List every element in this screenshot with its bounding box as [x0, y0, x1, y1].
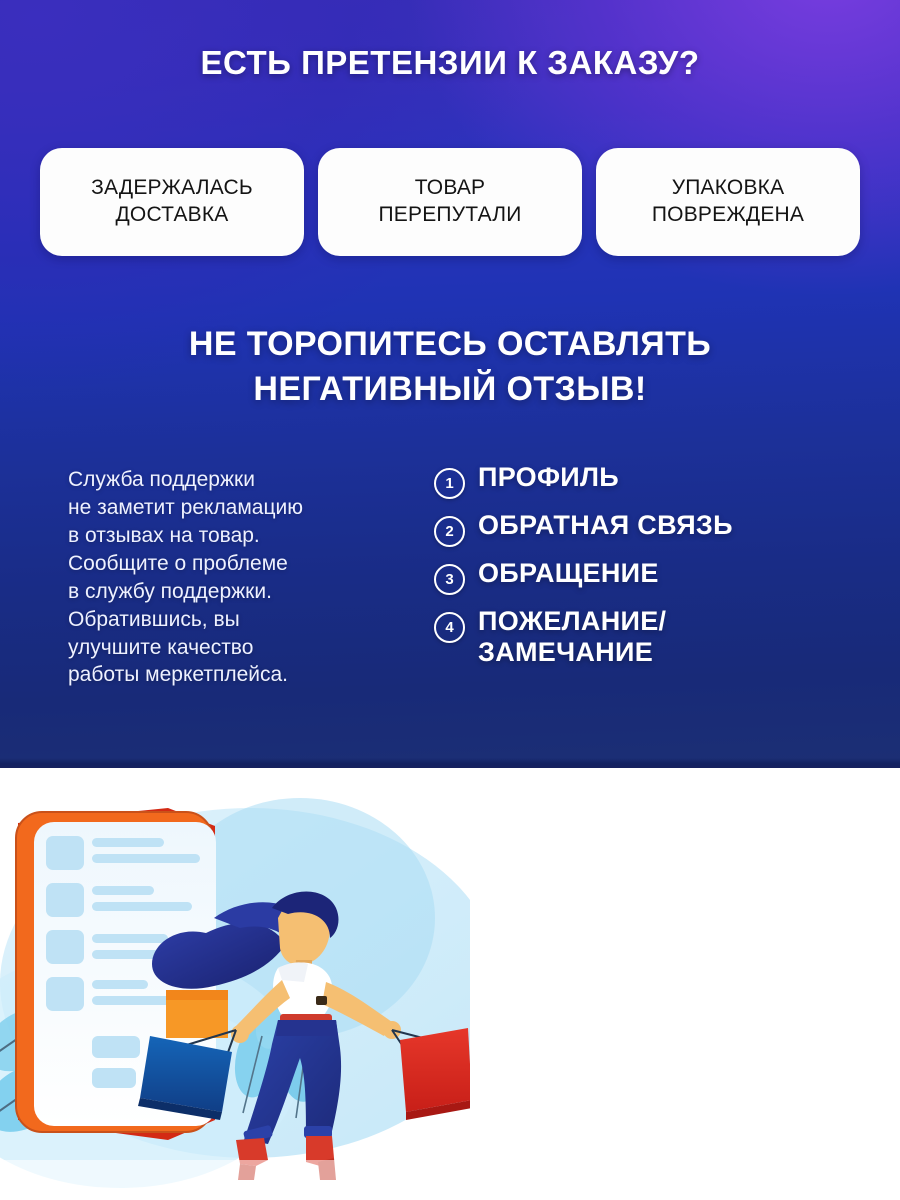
support-paragraph: Служба поддержки не заметит рекламацию в… — [68, 466, 398, 689]
step-label-wish-remark: ПОЖЕЛАНИЕ/ ЗАМЕЧАНИЕ — [478, 606, 666, 669]
card-delayed-delivery[interactable]: ЗАДЕРЖАЛАСЬ ДОСТАВКА — [40, 148, 304, 256]
step-number-badge: 4 — [434, 612, 465, 643]
bottom-panel: БУДЬТЕ ВНИМАТЕЛЬНЫ! Проверяйте свой зака… — [0, 768, 900, 1200]
support-paragraph-line-8: работы меркетплейса. — [68, 661, 398, 689]
support-paragraph-line-4: Сообщите о проблеме — [68, 550, 398, 578]
card-wrong-item[interactable]: ТОВАР ПЕРЕПУТАЛИ — [318, 148, 582, 256]
hero-body-columns: Служба поддержки не заметит рекламацию в… — [0, 462, 900, 722]
list-item[interactable]: 2 ОБРАТНАЯ СВЯЗЬ — [434, 510, 864, 547]
list-item[interactable]: 1 ПРОФИЛЬ — [434, 462, 864, 499]
list-item[interactable]: 3 ОБРАЩЕНИЕ — [434, 558, 864, 595]
support-paragraph-line-6: Обратившись, вы — [68, 606, 398, 634]
support-paragraph-line-3: в отзывах на товар. — [68, 522, 398, 550]
card-delayed-delivery-line2: ДОСТАВКА — [91, 202, 253, 229]
card-wrong-item-line2: ПЕРЕПУТАЛИ — [378, 202, 521, 229]
step-label-profile: ПРОФИЛЬ — [478, 462, 619, 493]
support-paragraph-line-2: не заметит рекламацию — [68, 494, 398, 522]
card-damaged-packaging[interactable]: УПАКОВКА ПОВРЕЖДЕНА — [596, 148, 860, 256]
hero-panel: ЕСТЬ ПРЕТЕНЗИИ К ЗАКАЗУ? ЗАДЕРЖАЛАСЬ ДОС… — [0, 0, 900, 768]
support-paragraph-line-5: в службу поддержки. — [68, 578, 398, 606]
list-item[interactable]: 4 ПОЖЕЛАНИЕ/ ЗАМЕЧАНИЕ — [434, 606, 864, 669]
hero-headline-line2: НЕГАТИВНЫЙ ОТЗЫВ! — [0, 367, 900, 412]
card-damaged-packaging-line1: УПАКОВКА — [652, 175, 804, 202]
hero-headline: НЕ ТОРОПИТЕСЬ ОСТАВЛЯТЬ НЕГАТИВНЫЙ ОТЗЫВ… — [0, 322, 900, 412]
support-paragraph-line-1: Служба поддержки — [68, 466, 398, 494]
step-number-badge: 3 — [434, 564, 465, 595]
steps-list: 1 ПРОФИЛЬ 2 ОБРАТНАЯ СВЯЗЬ 3 ОБРАЩЕНИЕ 4… — [434, 462, 864, 680]
support-paragraph-line-7: улучшите качество — [68, 634, 398, 662]
step-label-request: ОБРАЩЕНИЕ — [478, 558, 659, 589]
step-label-feedback: ОБРАТНАЯ СВЯЗЬ — [478, 510, 733, 541]
promo-banner: ЕСТЬ ПРЕТЕНЗИИ К ЗАКАЗУ? ЗАДЕРЖАЛАСЬ ДОС… — [0, 0, 900, 1200]
page-title: ЕСТЬ ПРЕТЕНЗИИ К ЗАКАЗУ? — [0, 44, 900, 82]
claim-reason-cards: ЗАДЕРЖАЛАСЬ ДОСТАВКА ТОВАР ПЕРЕПУТАЛИ УП… — [40, 148, 860, 256]
step-number-badge: 2 — [434, 516, 465, 547]
card-delayed-delivery-line1: ЗАДЕРЖАЛАСЬ — [91, 175, 253, 202]
card-damaged-packaging-line2: ПОВРЕЖДЕНА — [652, 202, 804, 229]
hero-headline-line1: НЕ ТОРОПИТЕСЬ ОСТАВЛЯТЬ — [0, 322, 900, 367]
woman-shopping-phone-illustration — [0, 768, 470, 1200]
step-number-badge: 1 — [434, 468, 465, 499]
card-wrong-item-line1: ТОВАР — [378, 175, 521, 202]
